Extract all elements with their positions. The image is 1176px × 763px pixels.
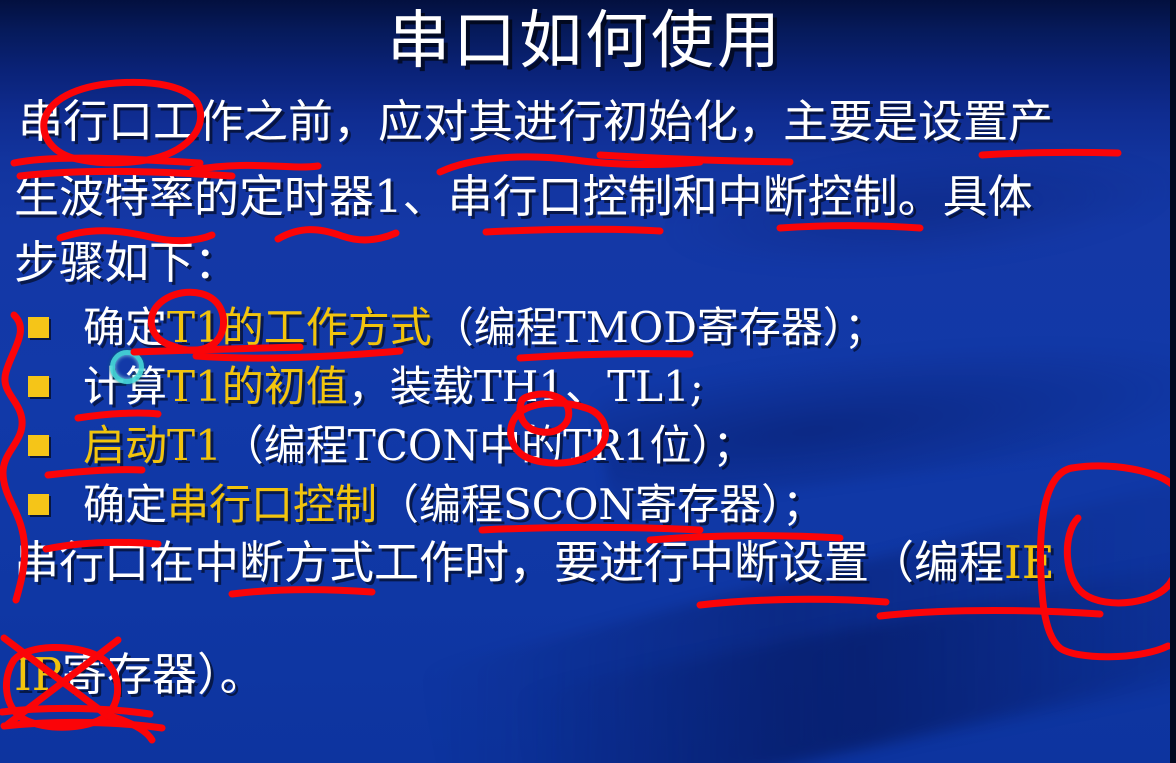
annotation-strike-ip-1 (2, 708, 150, 714)
intro-paragraph-line-2: 生波特率的定时器1、串行口控制和中断控制。具体 (14, 174, 1033, 219)
list-item-suffix: （编程TCON中的TR1位）； (222, 421, 755, 470)
list-item-text: 计算T1的初值，装载TH1、TL1; (83, 366, 704, 408)
list-item-text: 确定T1的工作方式（编程TMOD寄存器）； (83, 307, 886, 349)
annotation-underline-bottom-4 (700, 599, 886, 605)
annotation-underline-1 (14, 158, 200, 163)
presentation-slide: 串口如何使用 串行口工作之前，应对其进行初始化，主要是设置产 生波特率的定时器1… (0, 0, 1176, 763)
closing-text-suffix: 寄存器）。 (62, 648, 265, 701)
square-bullet-icon (28, 435, 49, 456)
square-bullet-icon (28, 376, 49, 397)
closing-text-prefix: 串行口在中断方式工作时，要进行中断设置（编程 (14, 536, 1004, 589)
list-item: 确定T1的工作方式（编程TMOD寄存器）； (28, 298, 1128, 357)
list-item: 计算T1的初值，装载TH1、TL1; (28, 357, 1128, 416)
list-item-text: 确定串行口控制（编程SCON寄存器）； (83, 484, 824, 526)
square-bullet-icon (28, 317, 49, 338)
list-item-highlight: 启动T1 (83, 421, 222, 470)
annotation-strike-ip-2 (4, 722, 162, 728)
list-item: 启动T1（编程TCON中的TR1位）； (28, 416, 1128, 475)
annotation-underline-chuanxingkoukongzhi (486, 229, 660, 232)
busy-ring-cursor-icon (110, 350, 144, 384)
annotation-underline-bottom-2 (232, 590, 372, 594)
annotation-wave-line2-b (278, 230, 396, 240)
closing-paragraph-line-2: IP寄存器）。 (14, 652, 265, 697)
closing-highlight-ip: IP (14, 648, 62, 701)
steps-bullet-list: 确定T1的工作方式（编程TMOD寄存器）； 计算T1的初值，装载TH1、TL1;… (28, 298, 1128, 534)
closing-paragraph-line-1: 串行口在中断方式工作时，要进行中断设置（编程IE (14, 540, 1055, 585)
slide-title: 串口如何使用 (0, 2, 1170, 81)
intro-paragraph-line-1: 串行口工作之前，应对其进行初始化，主要是设置产 (18, 99, 1053, 144)
closing-highlight-ie: IE (1004, 536, 1055, 589)
list-item-highlight: T1的初值 (167, 362, 348, 411)
list-item-prefix: 确定 (83, 303, 167, 352)
list-item-highlight: 串行口控制 (167, 480, 377, 529)
annotation-mark-line2-top-b (600, 155, 790, 162)
intro-paragraph-line-3: 步骤如下： (14, 240, 239, 285)
annotation-underline-shezhichan (982, 152, 1118, 155)
annotation-underline-ie (880, 611, 1100, 617)
list-item-highlight: T1的工作方式 (167, 303, 432, 352)
annotation-tick-ip (110, 716, 152, 740)
square-bullet-icon (28, 494, 49, 515)
annotation-underline-zhongduankongzhi (780, 226, 920, 228)
list-item-suffix: ，装载TH1、TL1; (348, 362, 704, 411)
list-item-prefix: 确定 (83, 480, 167, 529)
list-item-text: 启动T1（编程TCON中的TR1位）； (83, 425, 754, 467)
list-item-suffix: （编程TMOD寄存器）； (432, 303, 886, 352)
list-item-suffix: （编程SCON寄存器）； (377, 480, 824, 529)
list-item: 确定串行口控制（编程SCON寄存器）； (28, 475, 1128, 534)
